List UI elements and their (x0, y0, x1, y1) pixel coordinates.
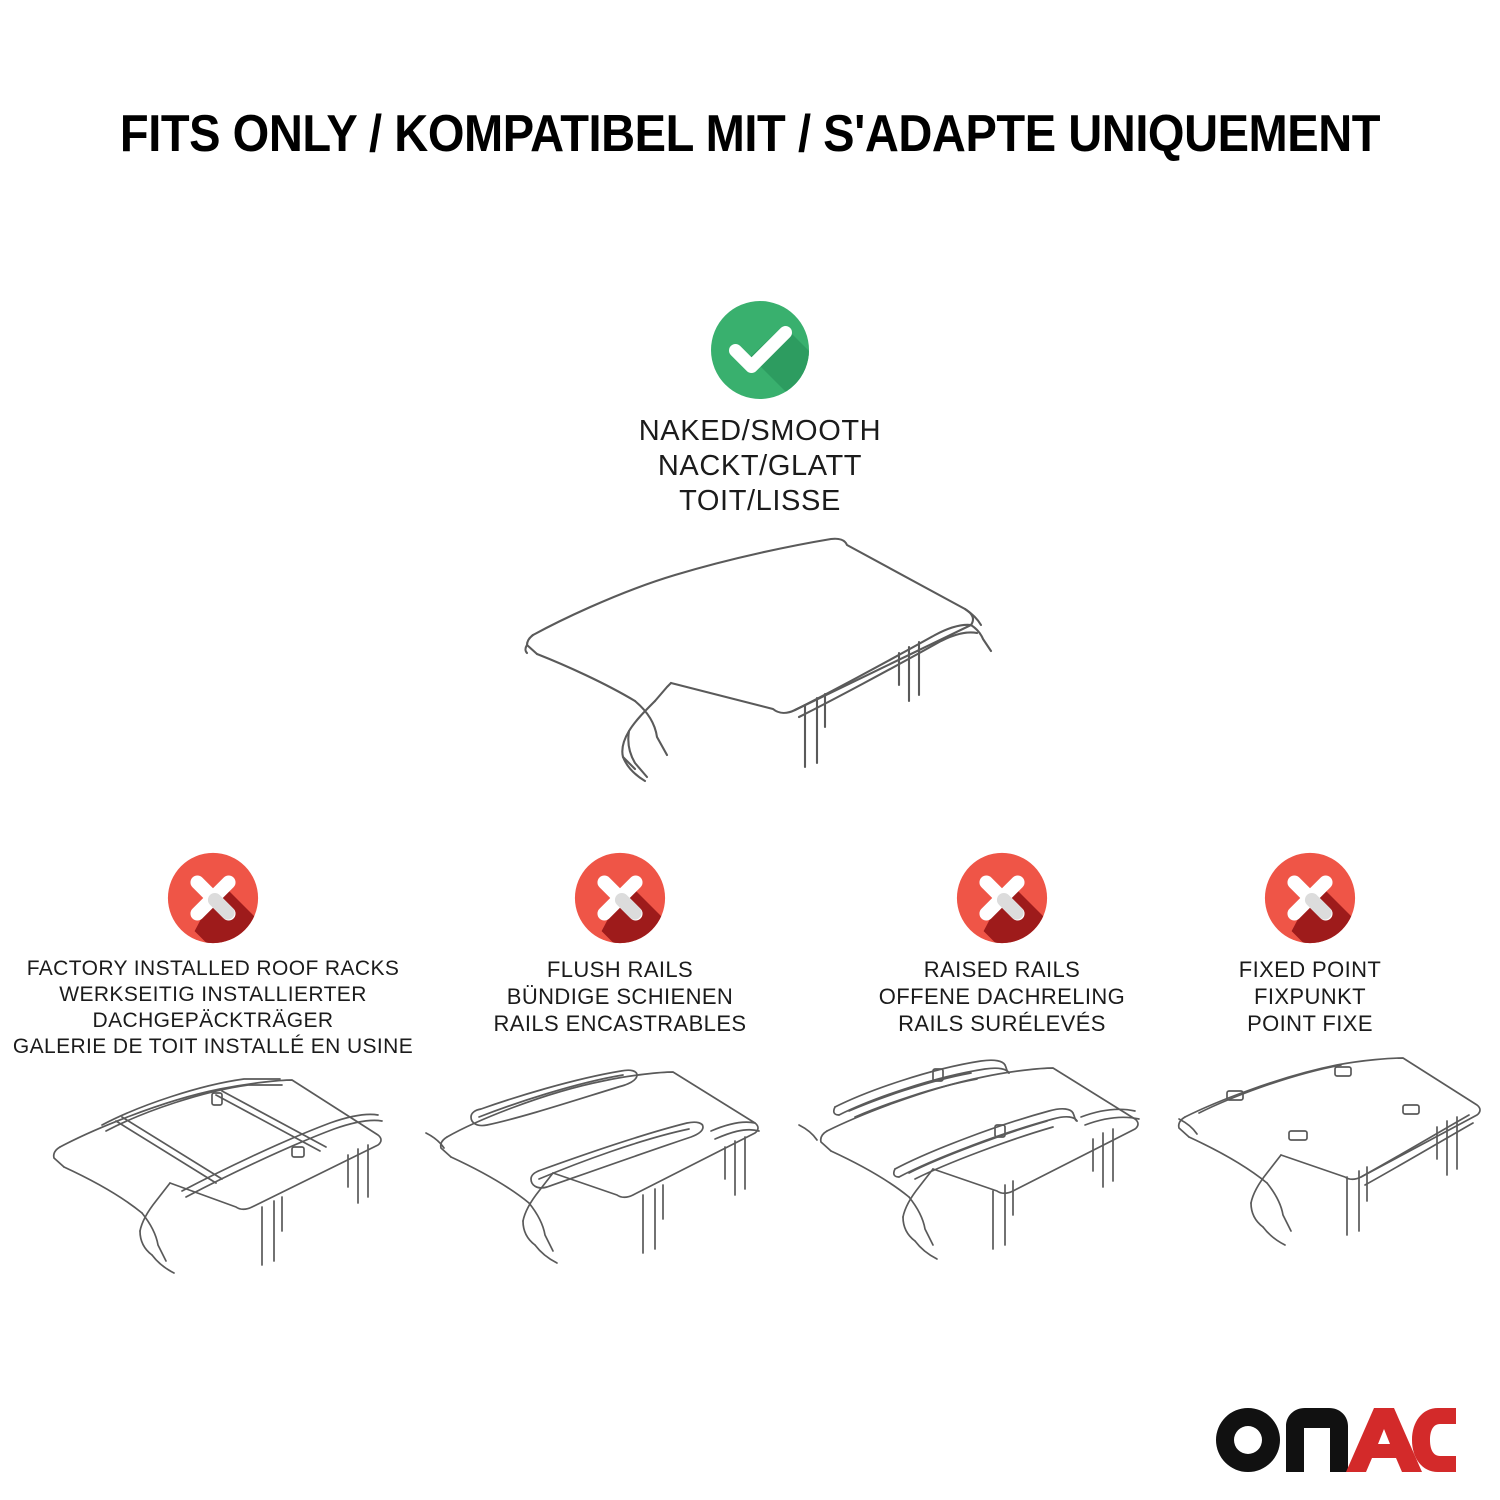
rejected-col-flush-rails: FLUSH RAILS BÜNDIGE SCHIENEN RAILS ENCAS… (432, 852, 808, 1037)
x-circle-icon (167, 852, 259, 944)
flush-label-fr: RAILS ENCASTRABLES (432, 1010, 808, 1037)
smooth-roof-illustration (495, 505, 1025, 800)
raised-label-fr: RAILS SURÉLEVÉS (812, 1010, 1192, 1037)
rejected-col-factory-roof-racks: FACTORY INSTALLED ROOF RACKS WERKSEITIG … (8, 852, 418, 1060)
fixed-label-stack: FIXED POINT FIXPUNKT POINT FIXE (1178, 956, 1442, 1037)
raised-label-de: OFFENE DACHRELING (812, 983, 1192, 1010)
fixed-label-de: FIXPUNKT (1178, 983, 1442, 1010)
omac-logo (1212, 1404, 1456, 1476)
x-circle-icon (1264, 852, 1356, 944)
fixed-point-illustration (1165, 1055, 1500, 1285)
factory-roof-rack-illustration (30, 1055, 450, 1285)
x-circle-icon (956, 852, 1048, 944)
factory-label-de-1: WERKSEITIG INSTALLIERTER (8, 982, 418, 1008)
approved-roof-type-block: NAKED/SMOOTH NACKT/GLATT TOIT/LISSE (560, 300, 960, 519)
fixed-label-en: FIXED POINT (1178, 956, 1442, 983)
flush-label-en: FLUSH RAILS (432, 956, 808, 983)
raised-label-en: RAISED RAILS (812, 956, 1192, 983)
fixed-label-fr: POINT FIXE (1178, 1010, 1442, 1037)
raised-rails-illustration (805, 1055, 1205, 1285)
rejected-col-raised-rails: RAISED RAILS OFFENE DACHRELING RAILS SUR… (812, 852, 1192, 1037)
flush-label-de: BÜNDIGE SCHIENEN (432, 983, 808, 1010)
flush-rails-illustration (425, 1055, 825, 1285)
rejected-col-fixed-point: FIXED POINT FIXPUNKT POINT FIXE (1178, 852, 1442, 1037)
approved-label-en: NAKED/SMOOTH (560, 414, 960, 449)
check-circle-icon (710, 300, 810, 400)
page-title: FITS ONLY / KOMPATIBEL MIT / S'ADAPTE UN… (71, 104, 1429, 164)
approved-label-stack: NAKED/SMOOTH NACKT/GLATT TOIT/LISSE (560, 414, 960, 519)
factory-label-de-2: DACHGEPÄCKTRÄGER (8, 1008, 418, 1034)
x-circle-icon (574, 852, 666, 944)
factory-label-en: FACTORY INSTALLED ROOF RACKS (8, 956, 418, 982)
approved-label-de: NACKT/GLATT (560, 449, 960, 484)
flush-label-stack: FLUSH RAILS BÜNDIGE SCHIENEN RAILS ENCAS… (432, 956, 808, 1037)
factory-label-stack: FACTORY INSTALLED ROOF RACKS WERKSEITIG … (8, 956, 418, 1060)
raised-label-stack: RAISED RAILS OFFENE DACHRELING RAILS SUR… (812, 956, 1192, 1037)
